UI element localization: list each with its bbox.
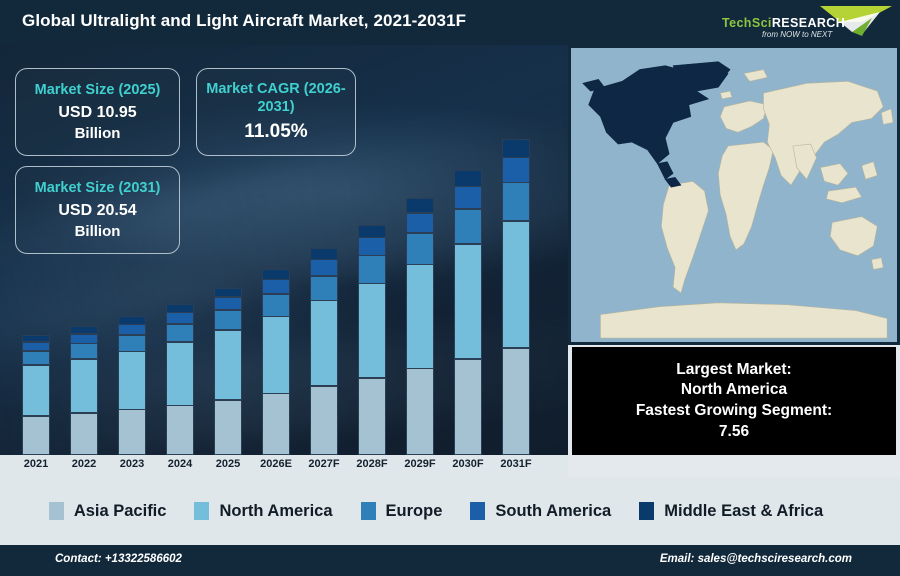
legend-label: North America — [219, 502, 332, 521]
bar-segment — [22, 416, 50, 455]
bar-segment — [70, 413, 98, 455]
legend-label: South America — [495, 502, 611, 521]
x-axis-label-2024: 2024 — [156, 458, 204, 470]
bar-segment — [406, 233, 434, 265]
legend-item-north-america[interactable]: North America — [194, 502, 360, 521]
world-map-icon — [571, 48, 897, 342]
logo-research-text: RESEARCH — [772, 16, 845, 30]
kpi-title: Market Size (2025) — [35, 81, 161, 99]
bar-segment — [118, 351, 146, 410]
bar-segment — [70, 343, 98, 359]
kpi-card-market-size-2031: Market Size (2031) USD 20.54 Billion — [15, 166, 180, 254]
x-axis-label-2022: 2022 — [60, 458, 108, 470]
bar-segment — [118, 335, 146, 352]
kpi-value: USD 10.95 — [58, 103, 136, 124]
kpi-card-market-size-2025: Market Size (2025) USD 10.95 Billion — [15, 68, 180, 156]
bar-segment — [406, 198, 434, 213]
bar-segment — [214, 400, 242, 455]
map-landmass — [661, 181, 708, 293]
x-axis-label-2026E: 2026E — [252, 458, 300, 470]
legend-label: Europe — [386, 502, 443, 521]
bar-2025 — [214, 288, 242, 455]
bar-2031F — [502, 140, 530, 455]
techsci-logo: TechSciRESEARCH from NOW to NEXT — [712, 2, 894, 44]
page-title: Global Ultralight and Light Aircraft Mar… — [22, 11, 466, 31]
bar-segment — [310, 248, 338, 260]
logo-tagline: from NOW to NEXT — [762, 30, 832, 39]
callout-line-1: Largest Market: — [676, 360, 791, 381]
legend-item-asia-pacific[interactable]: Asia Pacific — [49, 502, 195, 521]
map-landmass — [826, 187, 861, 203]
bar-2026E — [262, 270, 290, 455]
bar-segment — [262, 316, 290, 394]
legend-item-middle-east-africa[interactable]: Middle East & Africa — [639, 502, 851, 521]
map-landmass — [820, 164, 847, 186]
bar-segment — [214, 297, 242, 310]
kpi-title: Market CAGR (2026-2031) — [197, 80, 355, 116]
x-axis-label-2027F: 2027F — [300, 458, 348, 470]
map-landmass — [830, 217, 877, 256]
bar-segment — [358, 255, 386, 283]
kpi-title: Market Size (2031) — [35, 179, 161, 197]
bar-segment — [358, 237, 386, 256]
world-map-panel — [568, 45, 900, 345]
callout-line-2: North America — [681, 380, 787, 401]
logo-wordmark: TechSciRESEARCH — [722, 16, 845, 30]
map-landmass — [720, 91, 732, 99]
bar-segment — [166, 342, 194, 406]
map-landmass — [871, 258, 883, 270]
bar-segment — [502, 157, 530, 183]
bar-segment — [262, 279, 290, 294]
legend-item-europe[interactable]: Europe — [361, 502, 471, 521]
bar-segment — [406, 213, 434, 234]
bar-segment — [454, 186, 482, 209]
map-landmass — [718, 142, 773, 250]
bar-segment — [454, 244, 482, 360]
bar-segment — [358, 283, 386, 378]
map-landmass — [744, 70, 768, 82]
bar-segment — [310, 300, 338, 386]
x-axis-label-2023: 2023 — [108, 458, 156, 470]
footer-email: Email: sales@techsciresearch.com — [660, 553, 852, 565]
x-axis-label-2021: 2021 — [12, 458, 60, 470]
bar-2029F — [406, 199, 434, 455]
callout-box: Largest Market: North America Fastest Gr… — [572, 347, 896, 455]
bar-segment — [166, 324, 194, 343]
bar-2027F — [310, 249, 338, 455]
footer-contact: Contact: +13322586602 — [55, 553, 182, 565]
legend-label: Asia Pacific — [74, 502, 167, 521]
map-region-north-america — [657, 162, 673, 180]
bar-segment — [22, 365, 50, 416]
bar-segment — [406, 264, 434, 369]
bar-segment — [70, 359, 98, 414]
bar-segment — [454, 359, 482, 455]
legend-item-south-america[interactable]: South America — [470, 502, 639, 521]
x-axis-label-2030F: 2030F — [444, 458, 492, 470]
bar-2023 — [118, 317, 146, 455]
bar-2022 — [70, 327, 98, 455]
bar-segment — [118, 324, 146, 335]
legend-swatch — [194, 502, 209, 520]
bar-segment — [358, 378, 386, 455]
bar-segment — [454, 209, 482, 244]
bar-segment — [502, 139, 530, 157]
bar-segment — [310, 386, 338, 455]
bar-2030F — [454, 171, 482, 455]
bar-segment — [310, 259, 338, 276]
legend-swatch — [361, 502, 376, 520]
map-landmass — [720, 101, 767, 132]
bar-segment — [22, 351, 50, 366]
bar-segment — [454, 170, 482, 187]
bar-segment — [166, 312, 194, 324]
legend-swatch — [49, 502, 64, 520]
x-axis: 202120222023202420252026E2027F2028F2029F… — [0, 455, 568, 477]
bar-segment — [214, 310, 242, 331]
bar-segment — [502, 348, 530, 455]
bar-segment — [262, 294, 290, 317]
map-region-north-america — [665, 177, 681, 187]
chart-legend: Asia PacificNorth AmericaEuropeSouth Ame… — [0, 477, 900, 545]
bar-segment — [502, 182, 530, 221]
bar-segment — [262, 393, 290, 455]
callout-line-3: Fastest Growing Segment: — [636, 401, 832, 422]
x-axis-label-2028F: 2028F — [348, 458, 396, 470]
x-axis-label-2031F: 2031F — [492, 458, 540, 470]
bar-segment — [502, 221, 530, 349]
logo-tech-text: TechSci — [722, 16, 772, 30]
legend-label: Middle East & Africa — [664, 502, 823, 521]
map-landmass — [600, 303, 887, 338]
x-axis-label-2025: 2025 — [204, 458, 252, 470]
bar-segment — [214, 330, 242, 400]
bar-2024 — [166, 304, 194, 455]
kpi-unit: Billion — [75, 222, 121, 242]
header-bar: Global Ultralight and Light Aircraft Mar… — [0, 0, 900, 45]
x-axis-label-2029F: 2029F — [396, 458, 444, 470]
bar-2021 — [22, 335, 50, 455]
kpi-value: USD 20.54 — [58, 201, 136, 222]
bar-segment — [358, 225, 386, 238]
bar-segment — [310, 276, 338, 302]
callout-line-4: 7.56 — [719, 422, 749, 443]
kpi-value: 11.05% — [244, 120, 307, 145]
kpi-unit: Billion — [75, 124, 121, 144]
infographic-root: Global Ultralight and Light Aircraft Mar… — [0, 0, 900, 576]
legend-swatch — [470, 502, 485, 520]
map-landmass — [881, 109, 893, 125]
footer-bar: Contact: +13322586602 Email: sales@techs… — [0, 545, 900, 576]
bar-segment — [406, 368, 434, 455]
bar-segment — [118, 409, 146, 455]
bar-2028F — [358, 225, 386, 455]
legend-swatch — [639, 502, 654, 520]
kpi-card-market-cagr: Market CAGR (2026-2031) 11.05% — [196, 68, 356, 156]
map-landmass — [862, 162, 878, 180]
bar-segment — [166, 405, 194, 455]
world-map — [571, 48, 897, 342]
